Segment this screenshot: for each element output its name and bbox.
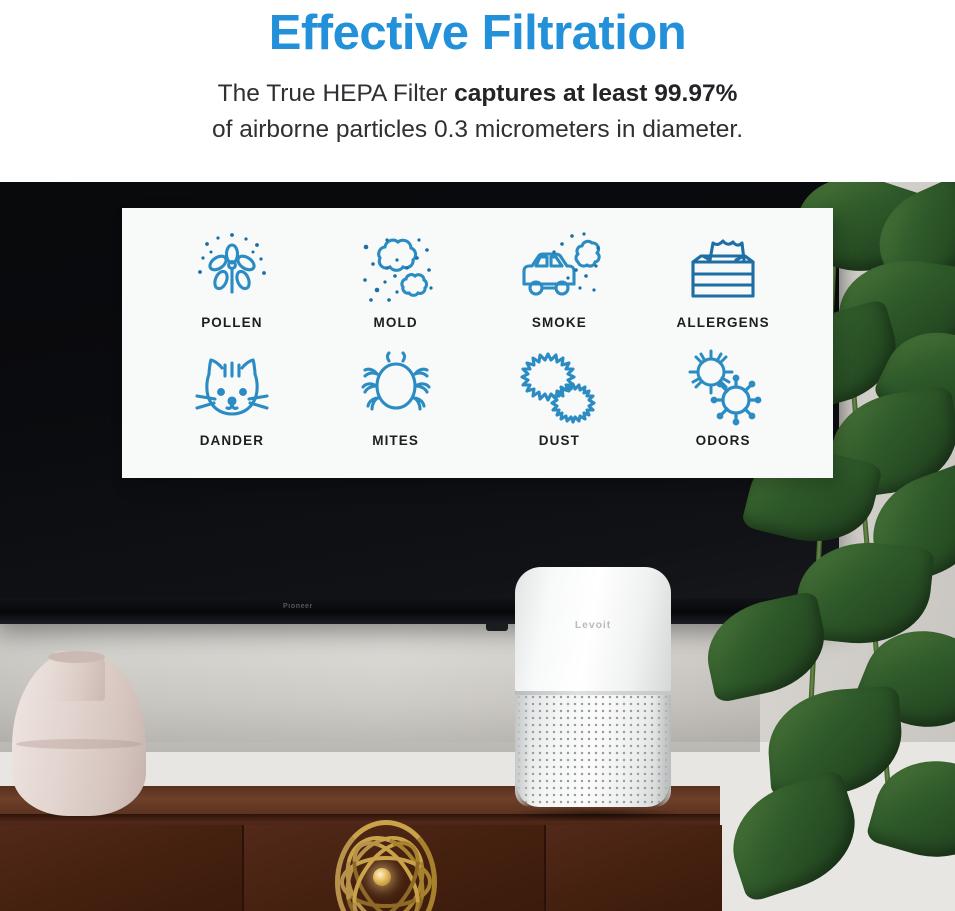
icon-label: POLLEN [201,315,262,330]
vase-band [16,739,142,749]
header-block: Effective Filtration The True HEPA Filte… [0,0,955,182]
sculpture-core [373,868,391,886]
cat-face-icon [191,346,273,428]
page-title: Effective Filtration [269,6,686,61]
subtitle-highlight: captures at least 99.97% [454,80,737,107]
tissue-box-icon [680,228,766,310]
grid-item-mites: MITES [314,346,478,464]
tv-brand-label: Pioneer [283,603,313,610]
grid-item-pollen: POLLEN [150,228,314,346]
brass-orbital-sculpture [324,820,446,911]
credenza-door-left [0,825,242,911]
vase-rim [48,651,105,663]
icon-label: MOLD [374,315,418,330]
grid-item-odors: ODORS [641,346,805,464]
purifier-mesh-left-shade [515,695,531,807]
icon-label: SMOKE [532,315,587,330]
mold-spores-icon [357,228,435,310]
pollen-flower-icon [193,228,271,310]
purifier-filter-mesh [517,695,669,807]
subtitle-prefix: The True HEPA Filter [218,80,454,107]
purifier-brand-label: Levoit [515,619,671,631]
grid-item-dust: DUST [478,346,642,464]
dust-mite-icon [355,346,437,428]
icon-label: DANDER [200,433,264,448]
icon-label: MITES [372,433,419,448]
odor-germ-molecule-icon [680,346,766,428]
grid-item-allergens: ALLERGENS [641,228,805,346]
purifier-mesh-right-shade [655,695,671,807]
subtitle-line-2: of airborne particles 0.3 micrometers in… [212,113,743,147]
tv-mount-foot [486,624,508,631]
icon-label: DUST [539,433,580,448]
dust-particle-burst-icon [516,346,602,428]
filtration-icon-panel: POLLEN [122,208,833,478]
subtitle-line-1: The True HEPA Filter captures at least 9… [218,77,738,111]
icon-label: ODORS [696,433,751,448]
icon-grid: POLLEN [122,208,833,478]
grid-item-smoke: SMOKE [478,228,642,346]
grid-item-dander: DANDER [150,346,314,464]
levoit-air-purifier: Levoit [515,567,671,814]
car-exhaust-smoke-icon [516,228,602,310]
grid-item-mold: MOLD [314,228,478,346]
product-infographic: Pioneer Levoit [0,0,955,911]
icon-label: ALLERGENS [677,315,770,330]
